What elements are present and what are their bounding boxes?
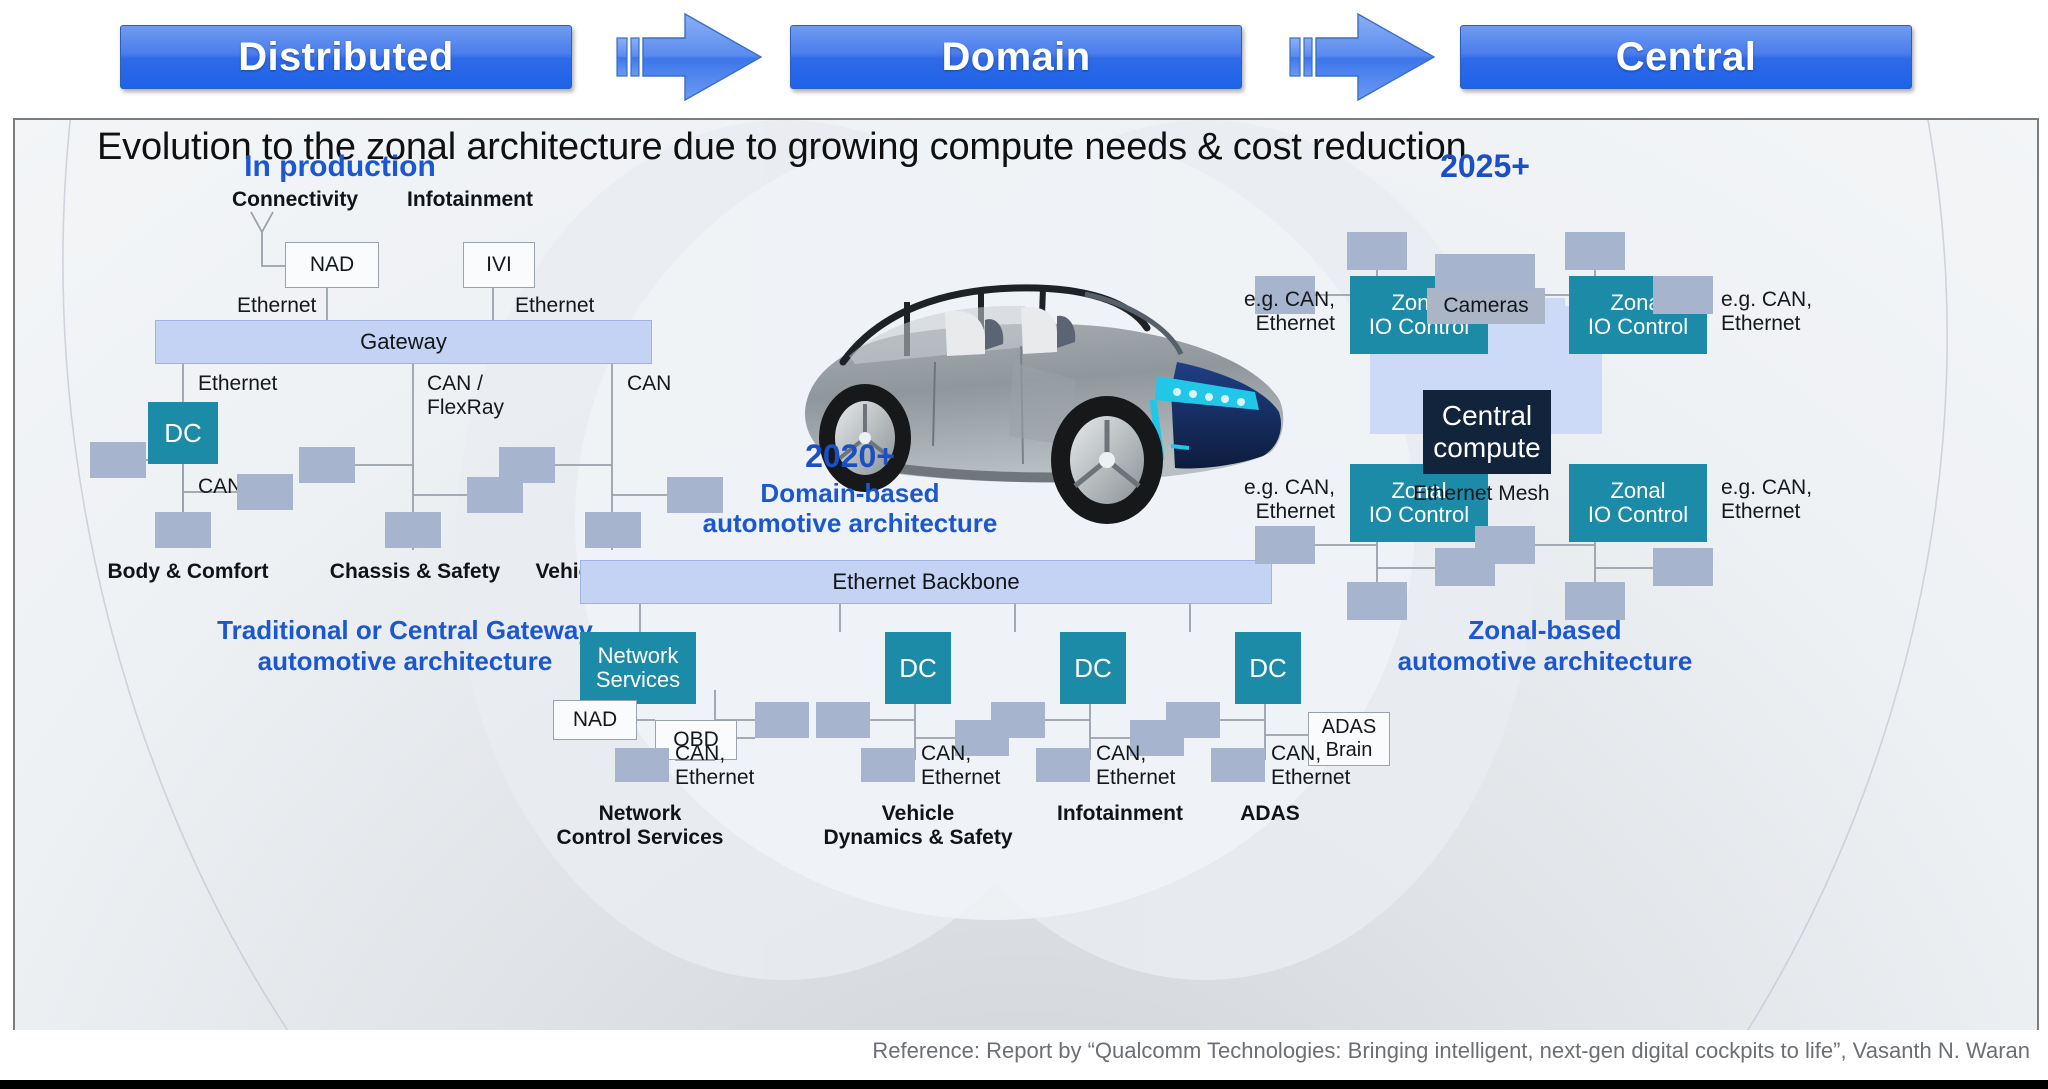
architecture-diagram-slide: Evolution to the zonal architecture due … xyxy=(13,118,2039,1032)
ecu-node xyxy=(1475,526,1535,564)
right-bus-label-br-1: e.g. CAN, xyxy=(1721,476,1812,500)
ecu-node xyxy=(585,512,641,548)
left-nad-box[interactable]: NAD xyxy=(285,242,379,288)
zonal-label-line1: Zonal xyxy=(1610,479,1665,503)
center-caption-line2: automotive architecture xyxy=(675,508,1025,538)
left-domain-label-0: Body & Comfort xyxy=(93,560,283,584)
center-bus-label-4b: Ethernet xyxy=(1271,766,1350,790)
left-bus-canflexray-2: FlexRay xyxy=(427,396,504,420)
phase-button-distributed-label: Distributed xyxy=(238,35,454,80)
left-phase-label: In production xyxy=(205,150,475,184)
phase-button-distributed[interactable]: Distributed xyxy=(120,25,572,89)
center-block-dc-2[interactable]: DC xyxy=(1060,632,1126,704)
center-bus-label-3b: Ethernet xyxy=(1096,766,1175,790)
right-bus-label-bl-2: Ethernet xyxy=(1205,500,1335,524)
right-caption-line1: Zonal-based xyxy=(1345,615,1745,645)
ecu-node xyxy=(1653,548,1713,586)
center-domain-label-1-line2: Dynamics & Safety xyxy=(813,826,1023,850)
center-bus-label-1a: CAN, xyxy=(675,742,725,766)
ecu-node xyxy=(299,447,355,483)
left-dc-box[interactable]: DC xyxy=(148,402,218,464)
right-bus-label-tr-2: Ethernet xyxy=(1721,312,1800,336)
left-label-infotainment: Infotainment xyxy=(385,188,555,212)
reference-text: Reference: Report by “Qualcomm Technolog… xyxy=(872,1038,2030,1064)
ethernet-mesh-label: Ethernet Mesh xyxy=(1413,482,1550,506)
left-label-connectivity: Connectivity xyxy=(215,188,375,212)
zonal-io-control-bottom-right[interactable]: Zonal IO Control xyxy=(1569,464,1707,542)
ecu-node xyxy=(385,512,441,548)
phase-button-central-label: Central xyxy=(1616,35,1757,80)
ecu-node xyxy=(991,702,1045,738)
adas-brain-line1: ADAS xyxy=(1322,716,1376,739)
right-phase-label: 2025+ xyxy=(1355,148,1615,185)
central-compute-line1: Central xyxy=(1442,400,1532,432)
ecu-node xyxy=(816,702,870,738)
center-bus-label-1b: Ethernet xyxy=(675,766,754,790)
ecu-node xyxy=(1166,702,1220,738)
left-ethernet-label-1: Ethernet xyxy=(237,294,316,318)
center-block-dc-3[interactable]: DC xyxy=(1235,632,1301,704)
left-ethernet-label-2: Ethernet xyxy=(515,294,594,318)
right-bus-label-tr-1: e.g. CAN, xyxy=(1721,288,1812,312)
ecu-node xyxy=(90,442,146,478)
ecu-node xyxy=(1653,276,1713,314)
ecu-node xyxy=(155,512,211,548)
ecu-node xyxy=(1475,254,1535,292)
right-bus-label-br-2: Ethernet xyxy=(1721,500,1800,524)
block-title-line1: Network xyxy=(598,644,679,668)
ecu-node xyxy=(499,447,555,483)
footer-band: Reference: Report by “Qualcomm Technolog… xyxy=(0,1030,2048,1080)
ecu-node xyxy=(615,748,669,782)
left-bus-ethernet: Ethernet xyxy=(198,372,277,396)
center-bus-label-4a: CAN, xyxy=(1271,742,1321,766)
center-block-dc-1[interactable]: DC xyxy=(885,632,951,704)
central-compute-box[interactable]: Central compute xyxy=(1423,390,1551,474)
bottom-rule xyxy=(0,1080,2048,1089)
cameras-box[interactable]: Cameras xyxy=(1427,288,1545,324)
left-domain-label-1: Chassis & Safety xyxy=(315,560,515,584)
ecu-node xyxy=(1255,526,1315,564)
block-title-line2: Services xyxy=(596,668,680,692)
center-nad-box[interactable]: NAD xyxy=(553,700,637,740)
center-domain-label-0-line2: Control Services xyxy=(535,826,745,850)
center-domain-label-0-line1: Network xyxy=(535,802,745,826)
ecu-node xyxy=(1036,748,1090,782)
center-bus-label-2b: Ethernet xyxy=(921,766,1000,790)
right-arrow-icon-1 xyxy=(615,11,765,103)
right-caption-line2: automotive architecture xyxy=(1305,646,1785,676)
center-caption-line1: Domain-based xyxy=(705,478,995,508)
left-bus-can: CAN xyxy=(627,372,671,396)
ecu-node xyxy=(1565,232,1625,270)
phase-button-domain-label: Domain xyxy=(941,35,1090,80)
right-bus-label-bl-1: e.g. CAN, xyxy=(1205,476,1335,500)
center-backbone-bar[interactable]: Ethernet Backbone xyxy=(580,560,1272,604)
right-bus-label-tl-2: Ethernet xyxy=(1205,312,1335,336)
right-bus-label-tl-1: e.g. CAN, xyxy=(1205,288,1335,312)
ecu-node xyxy=(861,748,915,782)
center-domain-label-1-line1: Vehicle xyxy=(813,802,1023,826)
phase-button-domain[interactable]: Domain xyxy=(790,25,1242,89)
left-bus-canflexray-1: CAN / xyxy=(427,372,483,396)
phase-header-band: Distributed Domain Central xyxy=(0,0,2048,116)
adas-brain-line2: Brain xyxy=(1326,739,1373,762)
center-bus-label-2a: CAN, xyxy=(921,742,971,766)
ecu-node xyxy=(1211,748,1265,782)
center-block-network-services[interactable]: Network Services xyxy=(580,632,696,704)
left-gateway-bar[interactable]: Gateway xyxy=(155,320,652,364)
right-arrow-icon-2 xyxy=(1288,11,1438,103)
center-bus-label-3a: CAN, xyxy=(1096,742,1146,766)
central-compute-line2: compute xyxy=(1433,432,1540,464)
ecu-node xyxy=(755,702,809,738)
center-phase-label: 2020+ xyxy=(715,438,985,475)
zonal-label-line2: IO Control xyxy=(1588,315,1688,339)
ecu-node xyxy=(237,474,293,510)
center-domain-label-3-line1: ADAS xyxy=(1165,802,1375,826)
ecu-node xyxy=(1347,232,1407,270)
left-ivi-box[interactable]: IVI xyxy=(463,242,535,288)
zonal-label-line2: IO Control xyxy=(1369,503,1469,527)
zonal-label-line2: IO Control xyxy=(1588,503,1688,527)
phase-button-central[interactable]: Central xyxy=(1460,25,1912,89)
